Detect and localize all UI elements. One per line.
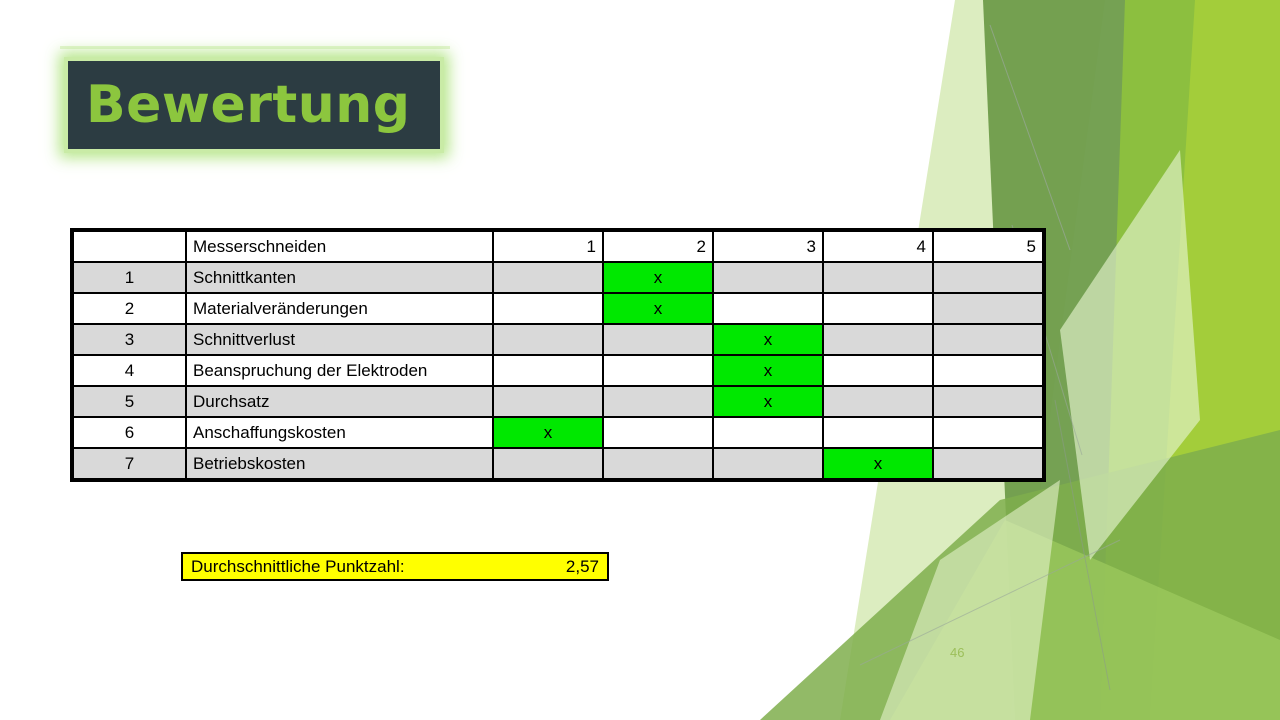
average-score-value: 2,57 (566, 557, 599, 577)
row-index-cell: 1 (73, 262, 186, 293)
average-score-label: Durchschnittliche Punktzahl: (191, 557, 405, 577)
score-cell[interactable] (933, 293, 1043, 324)
score-cell[interactable] (823, 293, 933, 324)
header-cell-score-3: 3 (713, 231, 823, 262)
decor-top-glow (60, 46, 450, 49)
slide-title-box: Bewertung (64, 57, 444, 153)
score-cell[interactable] (713, 417, 823, 448)
rating-table: Messerschneiden 1 2 3 4 5 1Schnittkanten… (72, 230, 1044, 480)
page-title: Bewertung (68, 75, 410, 135)
criterion-label-cell: Beanspruchung der Elektroden (186, 355, 493, 386)
table-row: 7Betriebskostenx (73, 448, 1043, 479)
score-cell-selected[interactable]: x (713, 355, 823, 386)
criterion-label-cell: Anschaffungskosten (186, 417, 493, 448)
table-row: 3Schnittverlustx (73, 324, 1043, 355)
row-index-cell: 2 (73, 293, 186, 324)
criterion-label-cell: Schnittkanten (186, 262, 493, 293)
score-cell[interactable] (823, 262, 933, 293)
score-cell[interactable] (933, 324, 1043, 355)
table-header-row: Messerschneiden 1 2 3 4 5 (73, 231, 1043, 262)
row-index-cell: 6 (73, 417, 186, 448)
decor-hairline-lower (1055, 400, 1110, 690)
table-row: 1Schnittkantenx (73, 262, 1043, 293)
page-number: 46 (950, 645, 964, 660)
table-row: 5Durchsatzx (73, 386, 1043, 417)
score-cell[interactable] (493, 386, 603, 417)
score-cell[interactable] (493, 355, 603, 386)
score-cell[interactable] (713, 448, 823, 479)
score-cell[interactable] (933, 448, 1043, 479)
score-cell[interactable] (493, 324, 603, 355)
score-cell[interactable] (493, 262, 603, 293)
row-index-cell: 7 (73, 448, 186, 479)
score-cell-selected[interactable]: x (493, 417, 603, 448)
header-cell-score-1: 1 (493, 231, 603, 262)
criterion-label-cell: Schnittverlust (186, 324, 493, 355)
row-index-cell: 5 (73, 386, 186, 417)
header-cell-index (73, 231, 186, 262)
row-index-cell: 3 (73, 324, 186, 355)
score-cell[interactable] (823, 324, 933, 355)
score-cell-selected[interactable]: x (603, 262, 713, 293)
decor-hairline-diagonal (860, 540, 1120, 665)
score-cell[interactable] (603, 386, 713, 417)
average-score-box: Durchschnittliche Punktzahl: 2,57 (181, 552, 609, 581)
criterion-label-cell: Betriebskosten (186, 448, 493, 479)
score-cell[interactable] (823, 355, 933, 386)
table-row: 4Beanspruchung der Elektrodenx (73, 355, 1043, 386)
table-row: 2Materialveränderungenx (73, 293, 1043, 324)
table-body: 1Schnittkantenx2Materialveränderungenx3S… (73, 262, 1043, 479)
header-cell-criterion: Messerschneiden (186, 231, 493, 262)
decor-shape-mid-band (1100, 0, 1280, 720)
score-cell[interactable] (603, 448, 713, 479)
criterion-label-cell: Durchsatz (186, 386, 493, 417)
score-cell[interactable] (933, 417, 1043, 448)
row-index-cell: 4 (73, 355, 186, 386)
score-cell[interactable] (603, 324, 713, 355)
score-cell[interactable] (713, 262, 823, 293)
score-cell[interactable] (493, 448, 603, 479)
score-cell[interactable] (603, 355, 713, 386)
score-cell-selected[interactable]: x (823, 448, 933, 479)
score-cell[interactable] (933, 262, 1043, 293)
decor-shape-bottom-pale (890, 520, 1280, 720)
decor-hairline-top (990, 25, 1070, 250)
score-cell[interactable] (493, 293, 603, 324)
score-cell[interactable] (713, 293, 823, 324)
score-cell[interactable] (823, 386, 933, 417)
score-cell-selected[interactable]: x (713, 386, 823, 417)
score-cell-selected[interactable]: x (603, 293, 713, 324)
score-cell[interactable] (603, 417, 713, 448)
decor-shape-light-right (1150, 0, 1280, 720)
score-cell[interactable] (823, 417, 933, 448)
header-cell-score-4: 4 (823, 231, 933, 262)
table-row: 6Anschaffungskostenx (73, 417, 1043, 448)
header-cell-score-2: 2 (603, 231, 713, 262)
score-cell[interactable] (933, 386, 1043, 417)
decor-shape-pale-overlay-a (1060, 150, 1200, 560)
score-cell-selected[interactable]: x (713, 324, 823, 355)
table-header: Messerschneiden 1 2 3 4 5 (73, 231, 1043, 262)
decor-shape-pale-overlay-b (880, 480, 1060, 720)
score-cell[interactable] (933, 355, 1043, 386)
criterion-label-cell: Materialveränderungen (186, 293, 493, 324)
header-cell-score-5: 5 (933, 231, 1043, 262)
